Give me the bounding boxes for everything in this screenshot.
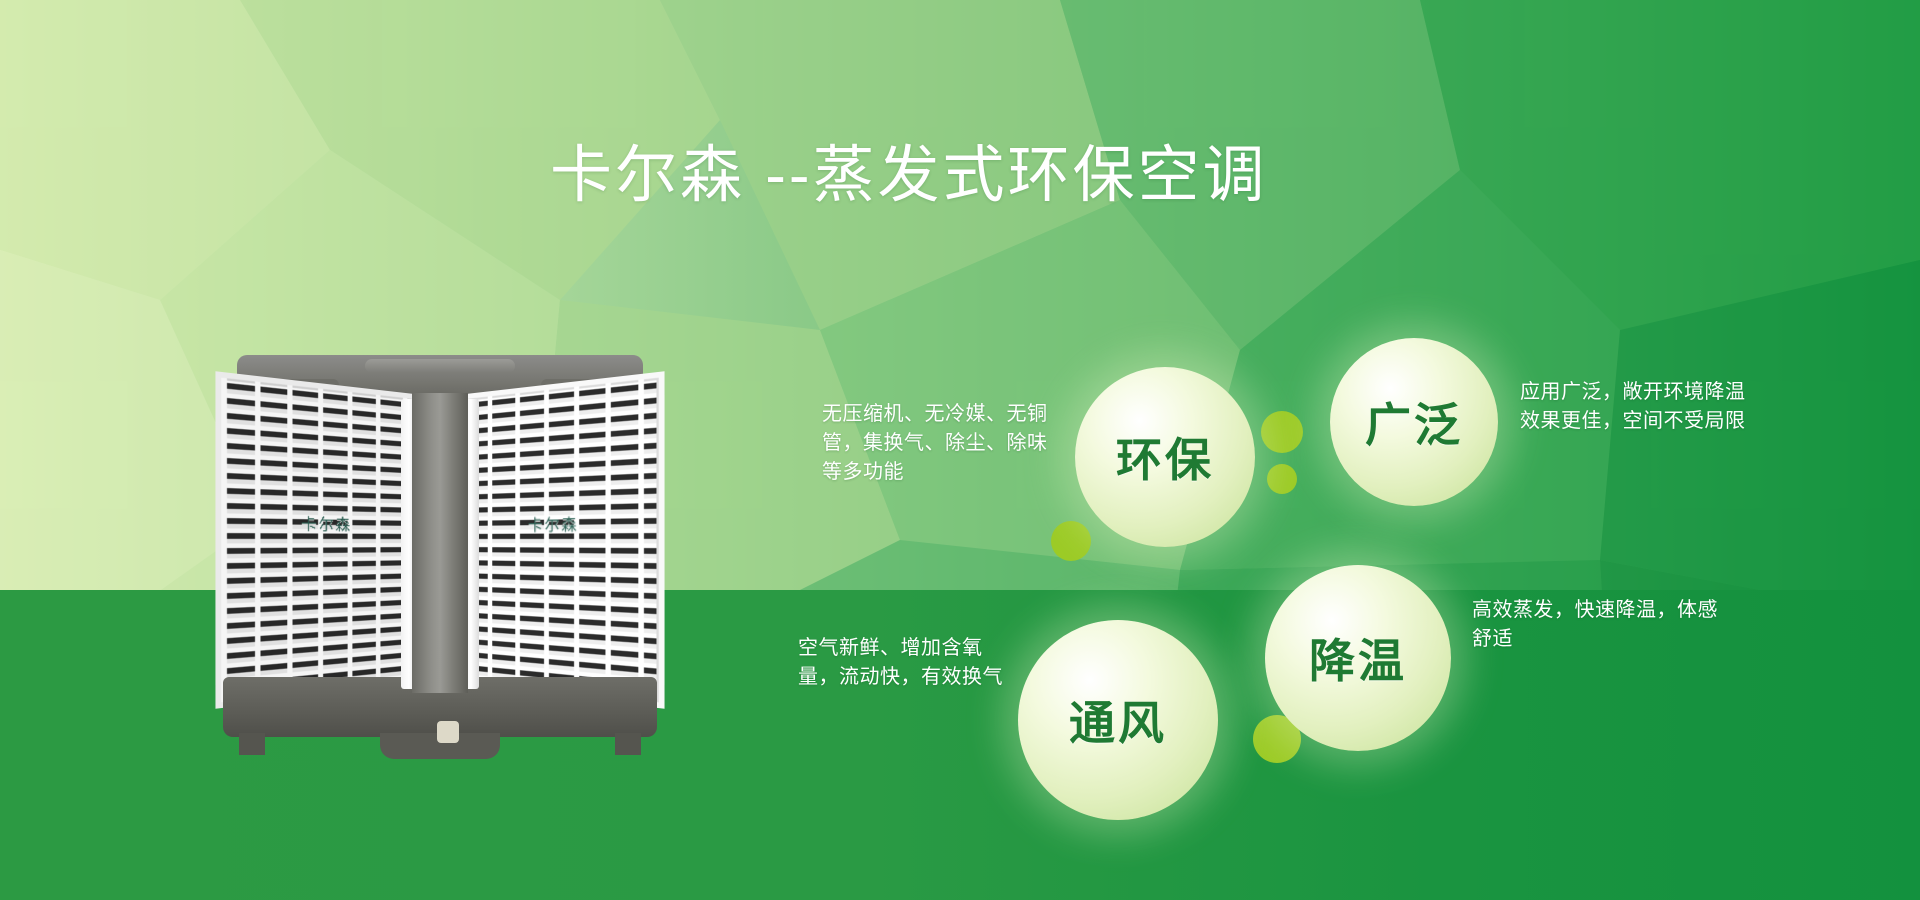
louver-grid-right xyxy=(461,378,658,703)
feature-description-guangfan: 应用广泛，敞开环境降温效果更佳，空间不受局限 xyxy=(1520,378,1750,436)
feature-bubble-huanbao: 环保 xyxy=(1075,367,1255,547)
feature-bubble-label: 降温 xyxy=(1309,625,1407,691)
feature-description-jiangwen: 高效蒸发，快速降温，体感舒适 xyxy=(1472,596,1737,654)
product-foot-right xyxy=(615,733,641,755)
product-louver-panel-right: 卡尔森 xyxy=(457,371,665,709)
feature-bubble-tongfeng: 通风 xyxy=(1018,620,1218,820)
lime-dot-icon xyxy=(1261,411,1303,453)
promo-banner: 卡尔森 --蒸发式环保空调 卡尔森 卡尔森 环保 广泛 降温 xyxy=(0,0,1920,900)
page-title: 卡尔森 --蒸发式环保空调 xyxy=(550,140,1268,211)
product-louver-panel-left: 卡尔森 xyxy=(215,371,423,709)
feature-bubble-label: 广泛 xyxy=(1365,389,1463,455)
product-drain-valve xyxy=(437,721,459,743)
feature-description-tongfeng: 空气新鲜、增加含氧量，流动快，有效换气 xyxy=(798,634,1013,692)
feature-bubble-jiangwen: 降温 xyxy=(1265,565,1451,751)
lime-dot-icon xyxy=(1267,464,1297,494)
product-image: 卡尔森 卡尔森 xyxy=(205,355,675,765)
product-brand-label-left: 卡尔森 xyxy=(221,511,418,536)
feature-description-huanbao: 无压缩机、无冷媒、无铜管，集换气、除尘、除味等多功能 xyxy=(822,400,1057,487)
feature-bubble-label: 环保 xyxy=(1116,424,1214,490)
product-brand-label-right: 卡尔森 xyxy=(461,511,658,536)
product-corner-post xyxy=(412,393,468,693)
product-foot-left xyxy=(239,733,265,755)
lime-dot-icon xyxy=(1051,521,1091,561)
feature-bubble-label: 通风 xyxy=(1069,687,1167,753)
louver-grid-left xyxy=(221,378,418,703)
feature-bubble-guangfan: 广泛 xyxy=(1330,338,1498,506)
